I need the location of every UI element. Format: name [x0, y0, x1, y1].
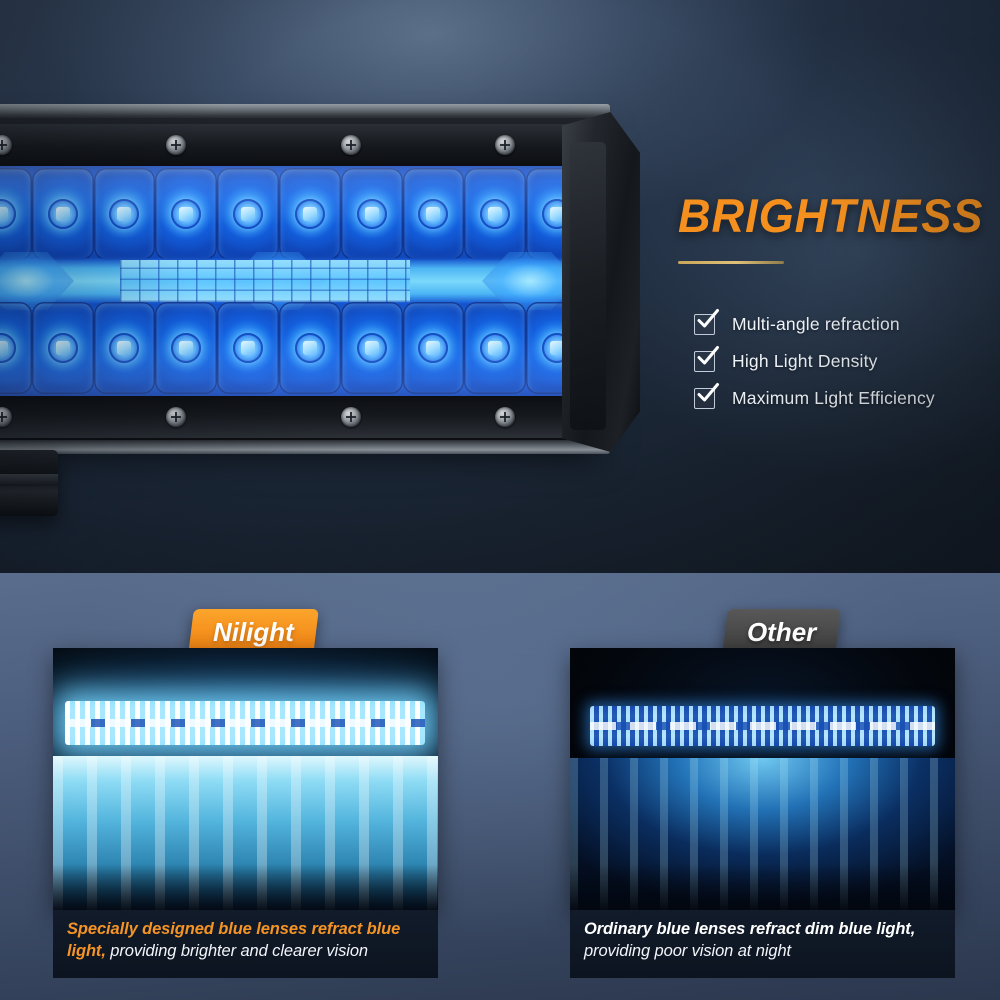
comparison-section: Nilight Specially designed blue lenses r…: [0, 573, 1000, 1000]
lens-cell: [155, 168, 217, 260]
lens-cell: [32, 302, 94, 394]
lens-cell: [0, 168, 32, 260]
photo-light-bar: [65, 701, 425, 745]
beam-fade-overlay: [570, 864, 955, 910]
list-item-label: Maximum Light Efficiency: [732, 388, 935, 409]
screw-icon: [495, 407, 515, 427]
product-marketing-image: BRIGHTNESS Multi-angle refraction: [0, 0, 1000, 1000]
lens-cell: [217, 168, 279, 260]
screw-icon: [341, 407, 361, 427]
checkbox-checked-icon: [694, 388, 715, 409]
mounting-bracket: [0, 450, 58, 516]
title-underline: [678, 261, 784, 264]
other-beam-photo: [570, 648, 955, 910]
badge-label: Nilight: [213, 617, 294, 648]
lens-cell: [0, 302, 32, 394]
list-item: Maximum Light Efficiency: [694, 380, 994, 416]
badge-label: Other: [747, 617, 816, 648]
lens-cell: [94, 168, 156, 260]
checkbox-checked-icon: [694, 351, 715, 372]
checkbox-checked-icon: [694, 314, 715, 335]
lens-cell: [341, 302, 403, 394]
page-title: BRIGHTNESS: [678, 188, 983, 243]
lens-cell: [464, 302, 526, 394]
lens-row-bottom: [0, 302, 588, 394]
lens-cell: [32, 168, 94, 260]
screw-icon: [166, 407, 186, 427]
comparison-panel-other: Other Ordinary blue lenses refract dim b…: [570, 648, 955, 978]
screw-icon: [166, 135, 186, 155]
screw-icon: [495, 135, 515, 155]
lens-cell: [155, 302, 217, 394]
photo-light-bar: [590, 706, 935, 746]
light-bar-mid-row: [65, 719, 425, 728]
lens-cell: [94, 302, 156, 394]
lens-cell: [403, 302, 465, 394]
screw-icon: [341, 135, 361, 155]
nilight-beam-photo: [53, 648, 438, 910]
lens-cell: [341, 168, 403, 260]
list-item-label: High Light Density: [732, 351, 878, 372]
housing-rail-bottom: [0, 396, 588, 438]
caption-rest: providing brighter and clearer vision: [106, 942, 368, 960]
lens-array: [0, 166, 588, 396]
lens-center-grid: [120, 260, 410, 302]
caption-rest: providing poor vision at night: [584, 942, 791, 960]
lens-cell: [217, 302, 279, 394]
screw-icon: [0, 135, 12, 155]
lens-cell: [279, 302, 341, 394]
housing-chrome-bottom: [0, 440, 610, 454]
housing-end-cap-inner: [570, 142, 606, 430]
list-item-label: Multi-angle refraction: [732, 314, 900, 335]
feature-list: Multi-angle refraction High Light Densit…: [694, 306, 994, 417]
screw-icon: [0, 407, 12, 427]
beam-fade-overlay: [53, 864, 438, 910]
comparison-panel-nilight: Nilight Specially designed blue lenses r…: [53, 648, 438, 978]
brightness-section: BRIGHTNESS Multi-angle refraction: [0, 0, 1000, 573]
led-light-bar: [0, 118, 670, 468]
light-bar-mid-row: [590, 722, 935, 730]
lens-row-top: [0, 168, 588, 260]
lens-cell: [279, 168, 341, 260]
caption-highlight: Ordinary blue lenses refract dim blue li…: [584, 920, 915, 938]
lens-cell: [403, 168, 465, 260]
list-item: High Light Density: [694, 343, 994, 379]
caption-other: Ordinary blue lenses refract dim blue li…: [570, 910, 955, 978]
lens-cell: [464, 168, 526, 260]
list-item: Multi-angle refraction: [694, 306, 994, 342]
housing-rail-top: [0, 124, 588, 166]
caption-nilight: Specially designed blue lenses refract b…: [53, 910, 438, 978]
